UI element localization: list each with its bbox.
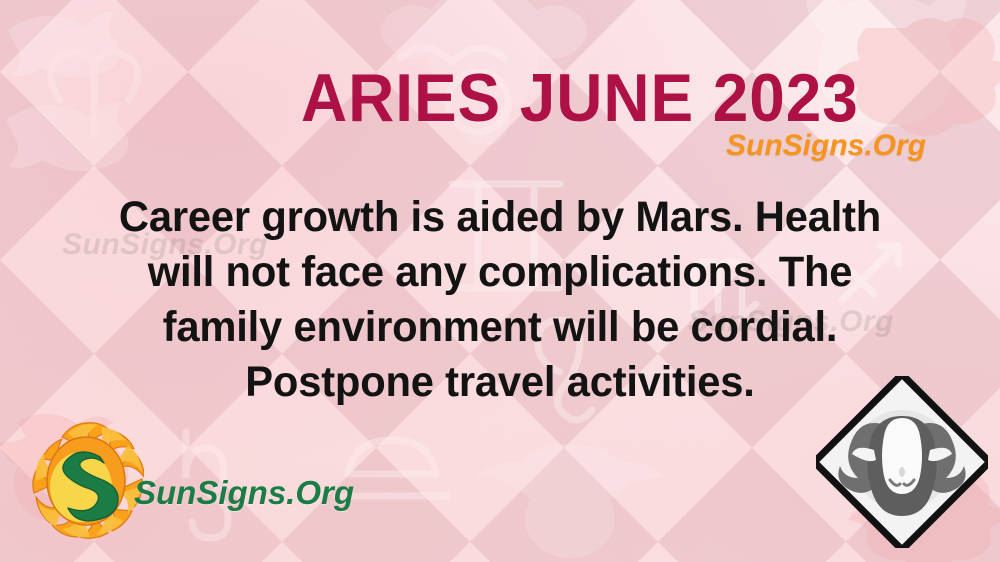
aries-ram-diamond-emblem-icon xyxy=(816,376,988,548)
brand-text-top-right: SunSigns.Org xyxy=(726,130,926,162)
horoscope-banner: SunSigns.Org SunSigns.Org ARIES JUNE 202… xyxy=(0,0,1000,562)
body-line: family environment will be cordial. xyxy=(38,300,961,355)
body-line: will not face any complications. The xyxy=(38,245,961,300)
banner-title: ARIES JUNE 2023 xyxy=(30,62,970,134)
body-line: Career growth is aided by Mars. Health xyxy=(38,190,961,245)
sun-with-s-logo-icon xyxy=(32,421,144,539)
sunsigns-logo[interactable]: SunSigns.Org xyxy=(32,420,354,540)
logo-brand-text: SunSigns.Org xyxy=(134,474,354,512)
